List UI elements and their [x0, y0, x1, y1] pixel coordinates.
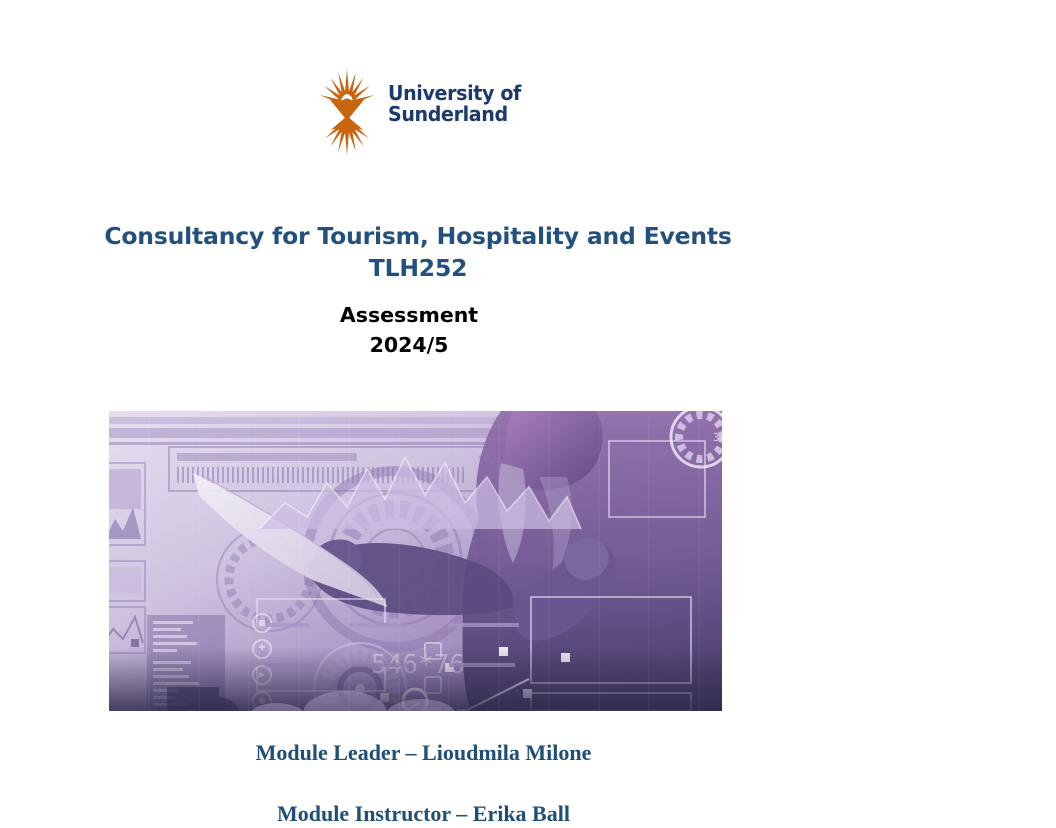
assessment-label: Assessment — [0, 300, 818, 330]
banner-image: 34 546*76 — [109, 411, 722, 711]
module-instructor: Module Instructor – Erika Ball — [0, 800, 847, 828]
assessment-year: 2024/5 — [0, 330, 818, 360]
module-leader: Module Leader – Lioudmila Milone — [0, 739, 847, 767]
logo-wordmark-line1: University of — [388, 83, 521, 104]
logo-wordmark: University of Sunderland — [388, 83, 531, 141]
module-title-text: Consultancy for Tourism, Hospitality and… — [104, 222, 731, 250]
assessment-block: Assessment 2024/5 — [0, 300, 818, 360]
svg-text:34: 34 — [713, 431, 722, 444]
module-title: Consultancy for Tourism, Hospitality and… — [0, 220, 836, 284]
university-logo: University of Sunderland — [316, 68, 531, 156]
staff-block: Module Leader – Lioudmila Milone Module … — [0, 739, 847, 828]
logo-wordmark-line2: Sunderland — [388, 104, 521, 125]
sunburst-icon — [316, 68, 378, 156]
module-code: TLH252 — [0, 252, 836, 284]
document-page: University of Sunderland Consultancy for… — [0, 0, 1056, 816]
